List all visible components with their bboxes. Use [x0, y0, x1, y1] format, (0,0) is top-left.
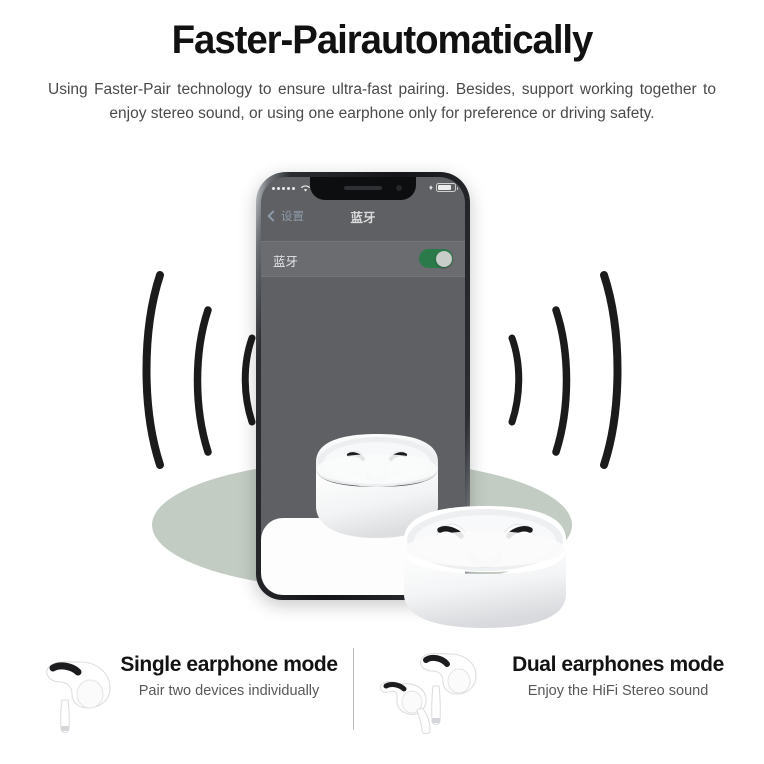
phone-notch [310, 177, 416, 200]
front-camera-icon [396, 185, 402, 191]
hero-stage: ♦ 设置 蓝牙 蓝牙 [0, 160, 764, 630]
mode-dual-text: Dual earphones mode Enjoy the HiFi Stere… [484, 652, 752, 701]
status-bar-left [272, 184, 311, 193]
bluetooth-icon: ♦ [429, 184, 433, 192]
page-title: Faster-Pairautomatically [15, 18, 748, 62]
product-feature-page: Faster-Pairautomatically Using Faster-Pa… [0, 0, 764, 764]
screen-title: 蓝牙 [261, 207, 465, 226]
battery-icon [436, 183, 456, 192]
mode-dual-title: Dual earphones mode [484, 652, 752, 677]
status-bar-right: ♦ [429, 183, 456, 192]
bluetooth-setting-row[interactable]: 蓝牙 [261, 241, 465, 277]
mode-dual-earphones: Dual earphones mode Enjoy the HiFi Stere… [372, 632, 752, 764]
dual-earbuds-icon [372, 640, 492, 740]
modes-section: Single earphone mode Pair two devices in… [0, 632, 764, 764]
mode-dual-subtitle: Enjoy the HiFi Stereo sound [484, 682, 752, 701]
signal-strength-icon [272, 187, 295, 190]
mode-single-subtitle: Pair two devices individually [114, 682, 344, 701]
modes-divider [353, 648, 354, 730]
charging-case-front [390, 490, 580, 630]
bluetooth-toggle[interactable] [419, 249, 453, 268]
mode-single-earphone: Single earphone mode Pair two devices in… [14, 632, 344, 764]
bluetooth-row-label: 蓝牙 [273, 251, 298, 270]
navigation-bar: 设置 蓝牙 [261, 203, 465, 233]
page-description: Using Faster-Pair technology to ensure u… [48, 78, 716, 125]
earpiece-speaker-icon [344, 186, 382, 190]
mode-single-text: Single earphone mode Pair two devices in… [114, 652, 344, 701]
mode-single-title: Single earphone mode [114, 652, 344, 677]
